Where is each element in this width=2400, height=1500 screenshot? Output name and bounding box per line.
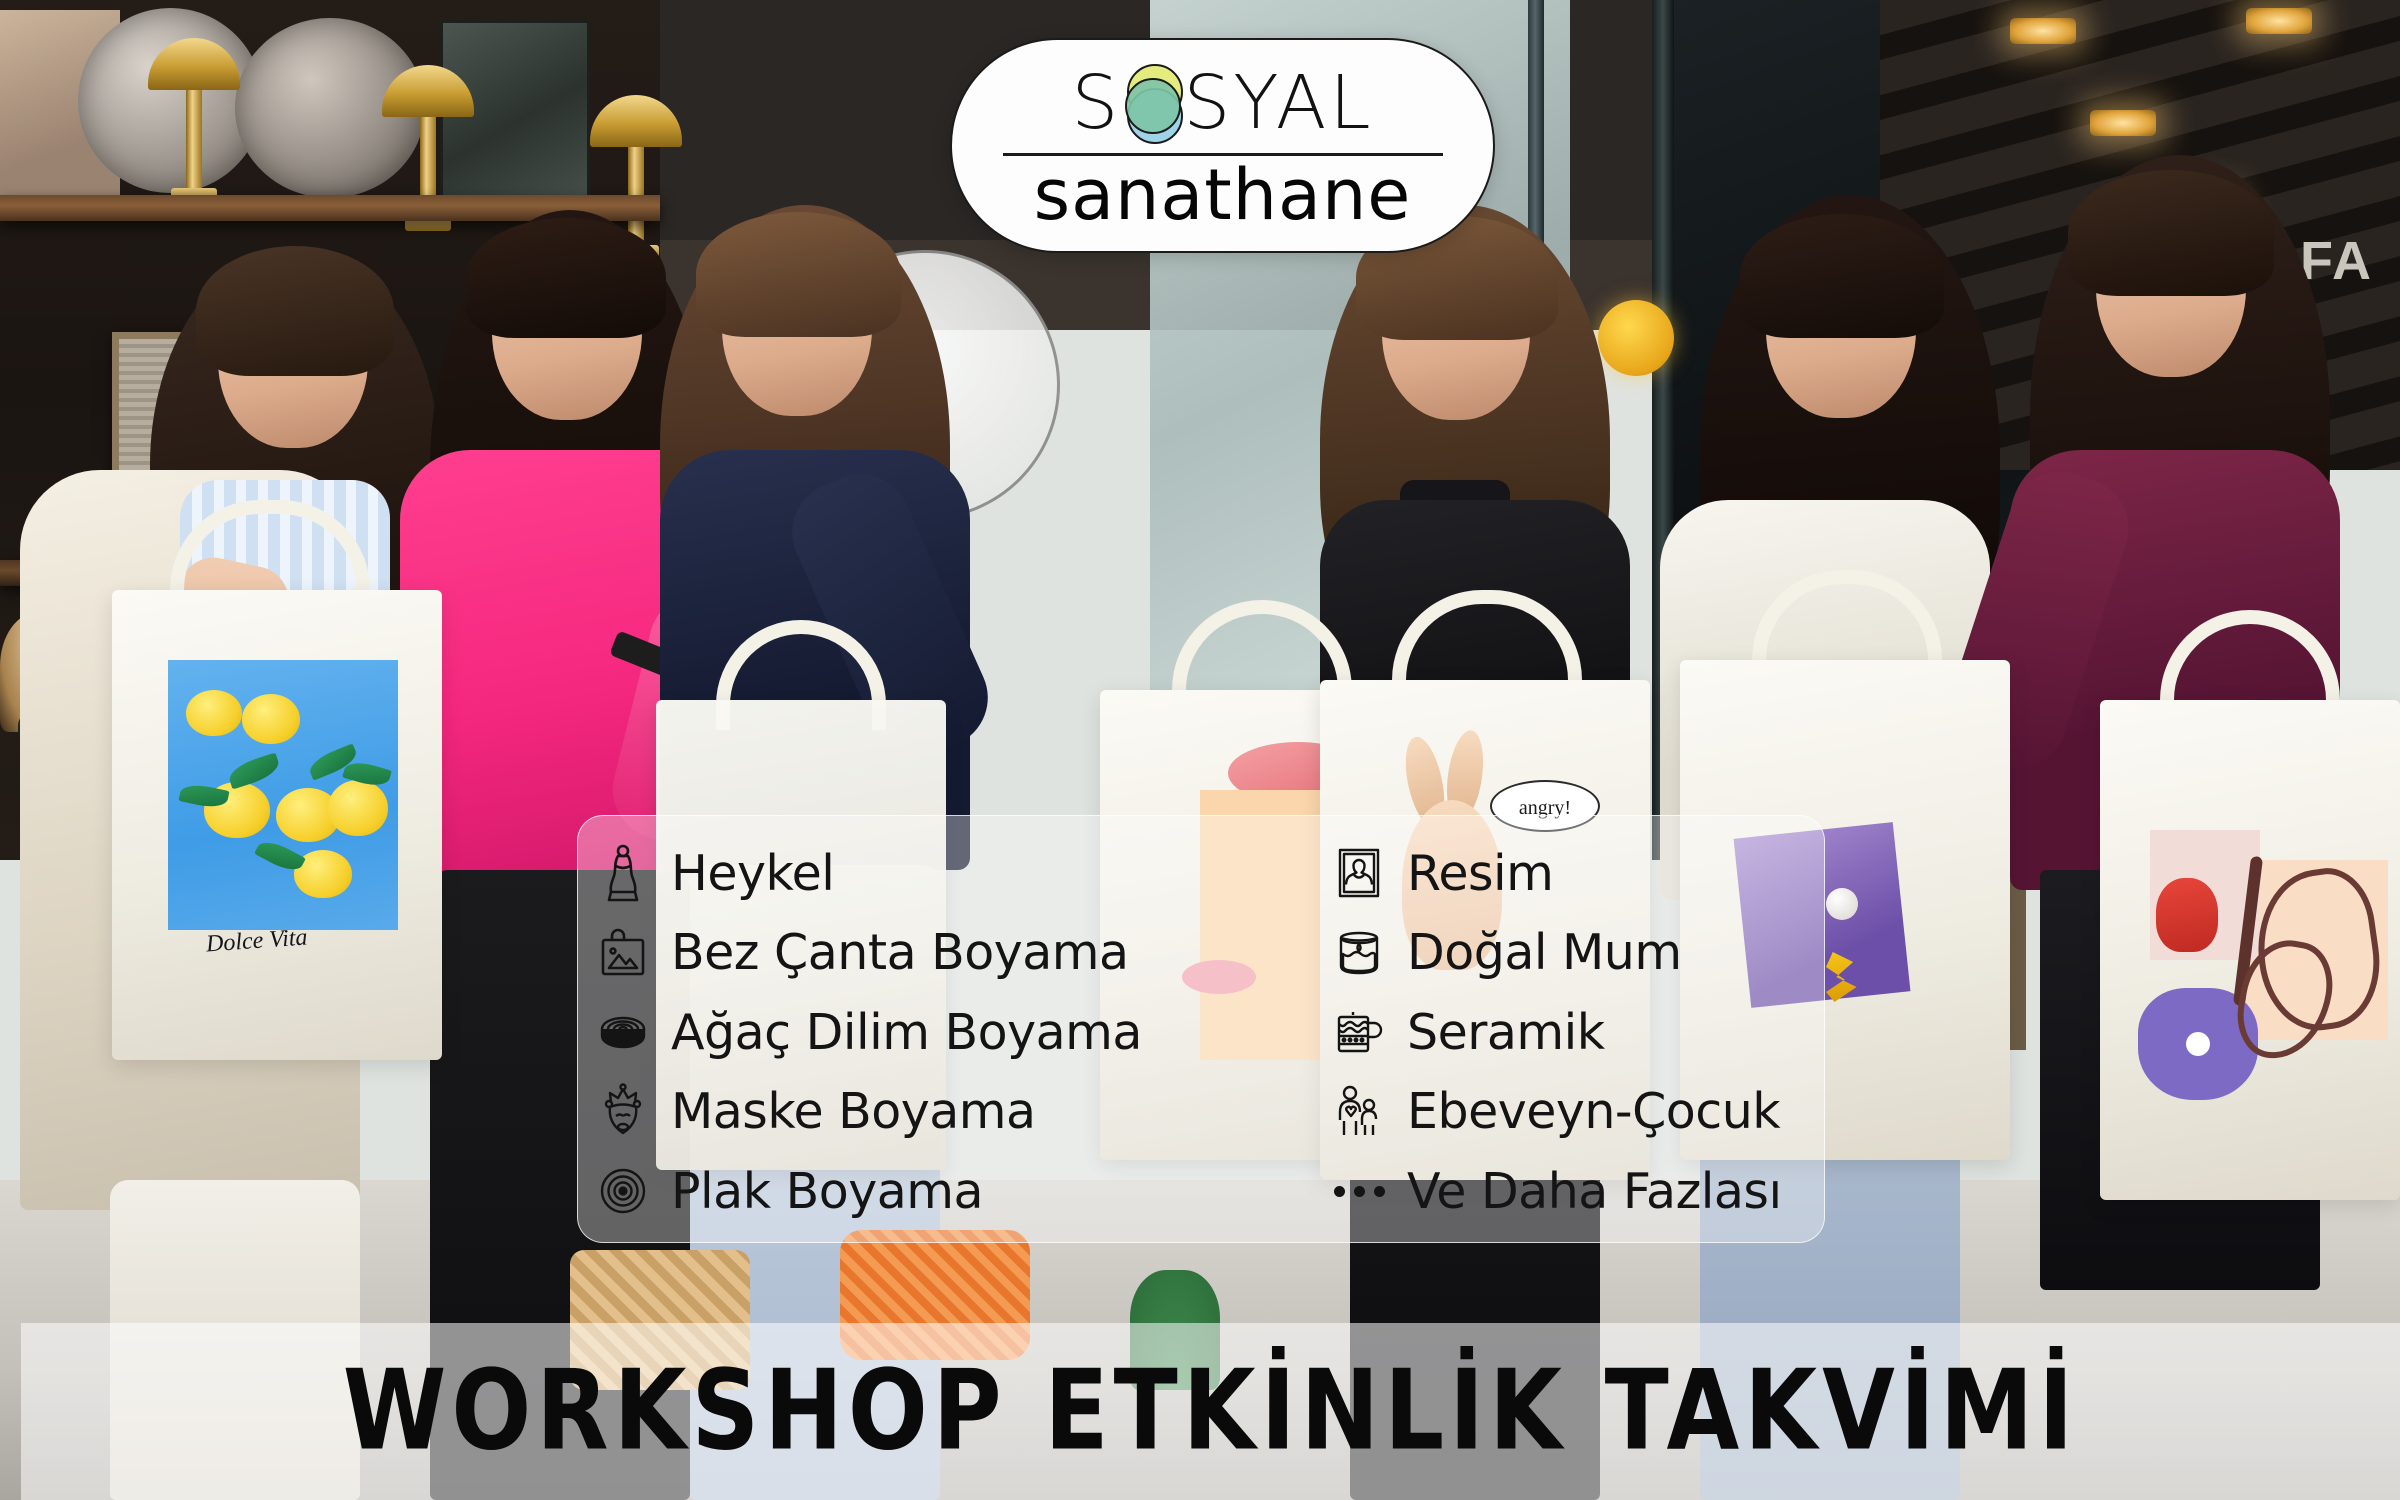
lemon-painting xyxy=(168,660,398,930)
bottom-banner: WORKSHOP ETKİNLİK TAKVİMİ xyxy=(21,1323,2400,1500)
brand-logo[interactable]: S SYAL sanathane xyxy=(950,38,1495,253)
poster-root: FA ane BİZ xyxy=(0,0,2400,1500)
logo-wordmark-bottom: sanathane xyxy=(1034,158,1412,234)
logo-letters-syal: SYAL xyxy=(1183,60,1373,146)
chair-leg xyxy=(2010,880,2026,1050)
ceiling-light-icon xyxy=(2246,8,2312,34)
services-panel xyxy=(577,815,1825,1243)
overlapping-circles-icon xyxy=(1121,64,1183,142)
hair-front xyxy=(2068,170,2274,296)
pearl-dot xyxy=(1826,888,1858,920)
hair-front xyxy=(1740,214,1944,338)
logo-wordmark-top: S SYAL xyxy=(1071,57,1373,149)
hair-front xyxy=(696,212,901,337)
red-tulip xyxy=(2156,878,2218,952)
storefront-sign-text: FA xyxy=(2300,230,2373,292)
ceiling-light-icon xyxy=(2010,18,2076,44)
mushroom-lamp-icon xyxy=(148,38,240,204)
ceiling-light-icon xyxy=(2090,110,2156,136)
yellow-circle-sign xyxy=(1598,300,1674,376)
hair-front xyxy=(466,218,666,338)
banner-title: WORKSHOP ETKİNLİK TAKVİMİ xyxy=(343,1347,2079,1476)
hair-front xyxy=(196,246,394,376)
logo-letter-s: S xyxy=(1071,60,1121,146)
